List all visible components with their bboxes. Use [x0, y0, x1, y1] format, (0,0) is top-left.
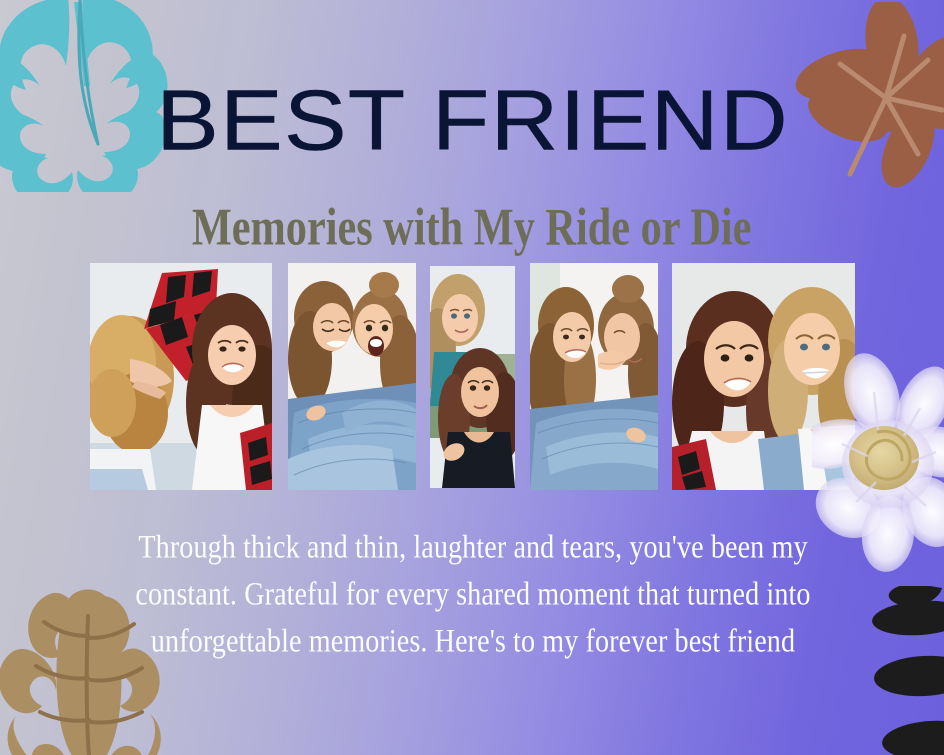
photo-1[interactable]	[90, 263, 272, 490]
photo-3[interactable]	[430, 266, 515, 488]
photo-5[interactable]	[672, 263, 855, 490]
poster-subtitle-wrapper: Memories with My Ride or Die	[0, 203, 944, 253]
poster-subtitle: Memories with My Ride or Die	[192, 199, 752, 257]
photo-2[interactable]	[288, 263, 416, 490]
poster-title-wrapper: BEST FRIEND	[0, 78, 944, 162]
best-friend-poster: BEST FRIEND Memories with My Ride or Die…	[0, 0, 944, 755]
poster-title: BEST FRIEND	[156, 77, 789, 163]
poster-body-text: Through thick and thin, laughter and tea…	[90, 524, 856, 665]
poster-body-wrapper: Through thick and thin, laughter and tea…	[78, 524, 868, 650]
photo-4[interactable]	[530, 263, 658, 490]
